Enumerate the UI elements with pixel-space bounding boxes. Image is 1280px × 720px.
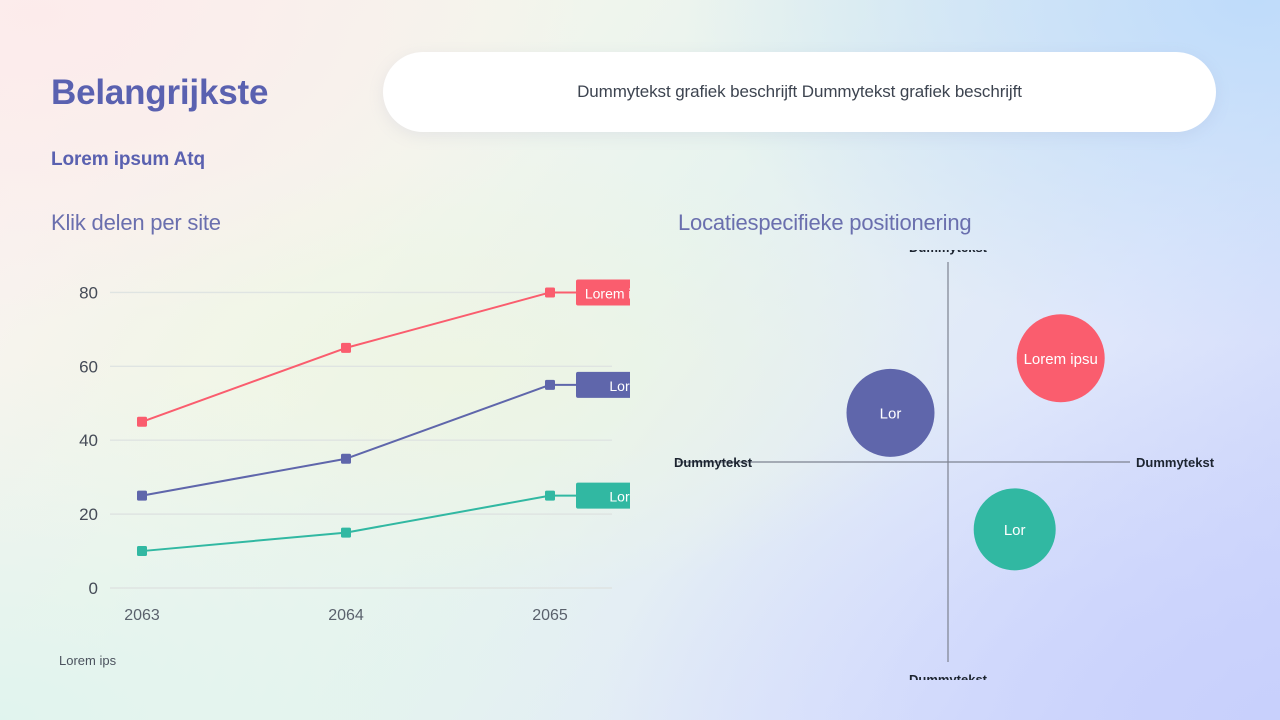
data-point-marker[interactable] [341, 528, 351, 538]
y-tick-label: 20 [79, 505, 98, 524]
data-point-marker[interactable] [341, 343, 351, 353]
banner-text: Dummytekst grafiek beschrijft Dummytekst… [577, 82, 1022, 102]
quadrant-axis-labels: DummytekstDummytekstDummytekstDummytekst [674, 250, 1215, 680]
legend-label-0: Lorem ipsu [585, 285, 630, 301]
legend-label-1: Lor [609, 378, 630, 394]
right-chart-title: Locatiespecifieke positionering [678, 210, 971, 236]
bubble-label-2: Lor [1004, 522, 1026, 539]
axis-label-bottom: Dummytekst [909, 672, 988, 680]
x-tick-label: 2065 [532, 607, 568, 624]
line-chart-legend: Lorem ipsuLorLor [555, 279, 630, 508]
series-line-0 [142, 292, 550, 421]
data-point-marker[interactable] [341, 454, 351, 464]
line-chart-x-axis: 206320642065 [124, 607, 568, 624]
line-chart-svg: 020406080 206320642065 Lorem ipsuLorLor [30, 250, 630, 650]
page-subtitle: Lorem ipsum Atq [51, 149, 205, 171]
data-point-marker[interactable] [545, 380, 555, 390]
line-chart-gridlines [110, 292, 612, 588]
line-chart-series [137, 287, 555, 556]
x-tick-label: 2063 [124, 607, 160, 624]
y-tick-label: 80 [79, 283, 98, 302]
data-point-marker[interactable] [137, 417, 147, 427]
y-tick-label: 0 [89, 579, 98, 598]
axis-label-right: Dummytekst [1136, 455, 1215, 470]
axis-label-top: Dummytekst [909, 250, 988, 255]
line-chart-y-axis: 020406080 [79, 283, 98, 598]
data-point-marker[interactable] [137, 491, 147, 501]
data-point-marker[interactable] [545, 287, 555, 297]
bubble-label-0: Lorem ipsu [1024, 351, 1098, 368]
data-point-marker[interactable] [137, 546, 147, 556]
line-chart: 020406080 206320642065 Lorem ipsuLorLor [30, 250, 630, 650]
legend-label-2: Lor [609, 489, 630, 505]
axis-label-left: Dummytekst [674, 455, 753, 470]
x-tick-label: 2064 [328, 607, 364, 624]
y-tick-label: 40 [79, 431, 98, 450]
left-chart-footnote: Lorem ips [59, 653, 116, 668]
series-line-2 [142, 496, 550, 551]
data-point-marker[interactable] [545, 491, 555, 501]
slide-canvas: Belangrijkste Lorem ipsum Atq Dummytekst… [0, 0, 1280, 720]
page-title: Belangrijkste [51, 74, 268, 113]
banner-card: Dummytekst grafiek beschrijft Dummytekst… [383, 52, 1216, 132]
quadrant-chart: DummytekstDummytekstDummytekstDummytekst… [660, 250, 1260, 680]
bubble-label-1: Lor [880, 405, 902, 422]
quadrant-bubbles: Lorem ipsuLorLor [847, 314, 1105, 570]
quadrant-chart-svg: DummytekstDummytekstDummytekstDummytekst… [660, 250, 1260, 680]
y-tick-label: 60 [79, 357, 98, 376]
left-chart-title: Klik delen per site [51, 210, 221, 236]
